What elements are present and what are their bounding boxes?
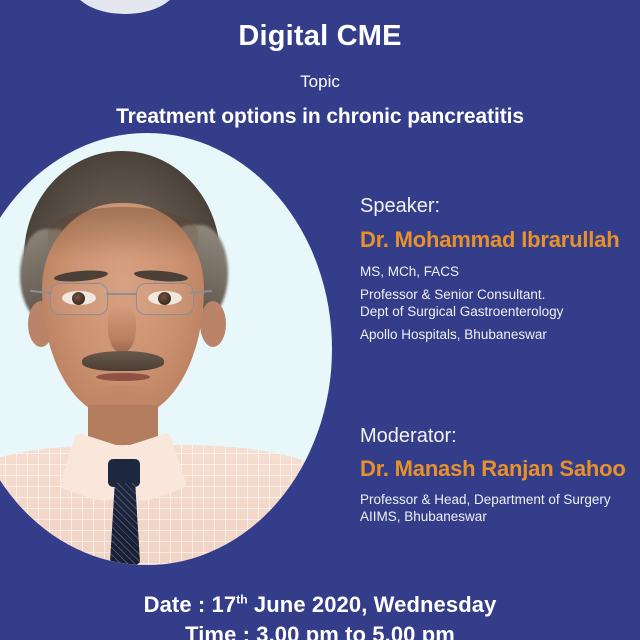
photo-glasses-bridge bbox=[106, 293, 136, 295]
event-time: Time : 3.00 pm to 5.00 pm bbox=[0, 620, 640, 640]
moderator-credential-line: Professor & Head, Department of Surgery bbox=[360, 491, 626, 508]
speaker-photo bbox=[0, 133, 332, 565]
photo-glasses-lens-left bbox=[50, 283, 108, 315]
page-title: Digital CME bbox=[0, 0, 640, 51]
moderator-block: Moderator: Dr. Manash Ranjan Sahoo Profe… bbox=[360, 426, 626, 525]
photo-ear-right bbox=[200, 301, 226, 347]
event-date-prefix: Date : 17 bbox=[144, 592, 237, 617]
speaker-block: Speaker: Dr. Mohammad Ibrarullah MS, MCh… bbox=[360, 196, 619, 343]
event-date: Date : 17th June 2020, Wednesday bbox=[0, 590, 640, 620]
speaker-name: Dr. Mohammad Ibrarullah bbox=[360, 229, 619, 251]
photo-tie bbox=[110, 483, 140, 565]
topic-text: Treatment options in chronic pancreatiti… bbox=[0, 90, 640, 127]
speaker-credential-line: Professor & Senior Consultant. bbox=[360, 286, 619, 303]
speaker-role-label: Speaker: bbox=[360, 196, 619, 216]
photo-tie-knot bbox=[108, 459, 140, 487]
photo-forehead bbox=[48, 207, 198, 259]
cme-announcement-poster: Digital CME Topic Treatment options in c… bbox=[0, 0, 640, 640]
moderator-role-label: Moderator: bbox=[360, 426, 626, 446]
event-date-suffix: June 2020, Wednesday bbox=[248, 592, 497, 617]
speaker-credential-line: Dept of Surgical Gastroenterology bbox=[360, 303, 619, 320]
header-block: Digital CME Topic Treatment options in c… bbox=[0, 0, 640, 127]
moderator-name: Dr. Manash Ranjan Sahoo bbox=[360, 458, 626, 480]
topic-label: Topic bbox=[0, 51, 640, 90]
speaker-credential-line: Apollo Hospitals, Bhubaneswar bbox=[360, 326, 619, 343]
speaker-credential-line: MS, MCh, FACS bbox=[360, 263, 619, 280]
photo-moustache bbox=[82, 351, 164, 371]
photo-mouth bbox=[96, 373, 150, 381]
photo-glasses-lens-right bbox=[136, 283, 194, 315]
photo-nose bbox=[108, 305, 136, 353]
moderator-credential-line: AIIMS, Bhubaneswar bbox=[360, 508, 626, 525]
speaker-portrait bbox=[0, 133, 332, 565]
speaker-credentials: MS, MCh, FACS Professor & Senior Consult… bbox=[360, 263, 619, 343]
event-date-ordinal: th bbox=[236, 593, 248, 607]
schedule-block: Date : 17th June 2020, Wednesday Time : … bbox=[0, 590, 640, 640]
moderator-credentials: Professor & Head, Department of Surgery … bbox=[360, 491, 626, 525]
